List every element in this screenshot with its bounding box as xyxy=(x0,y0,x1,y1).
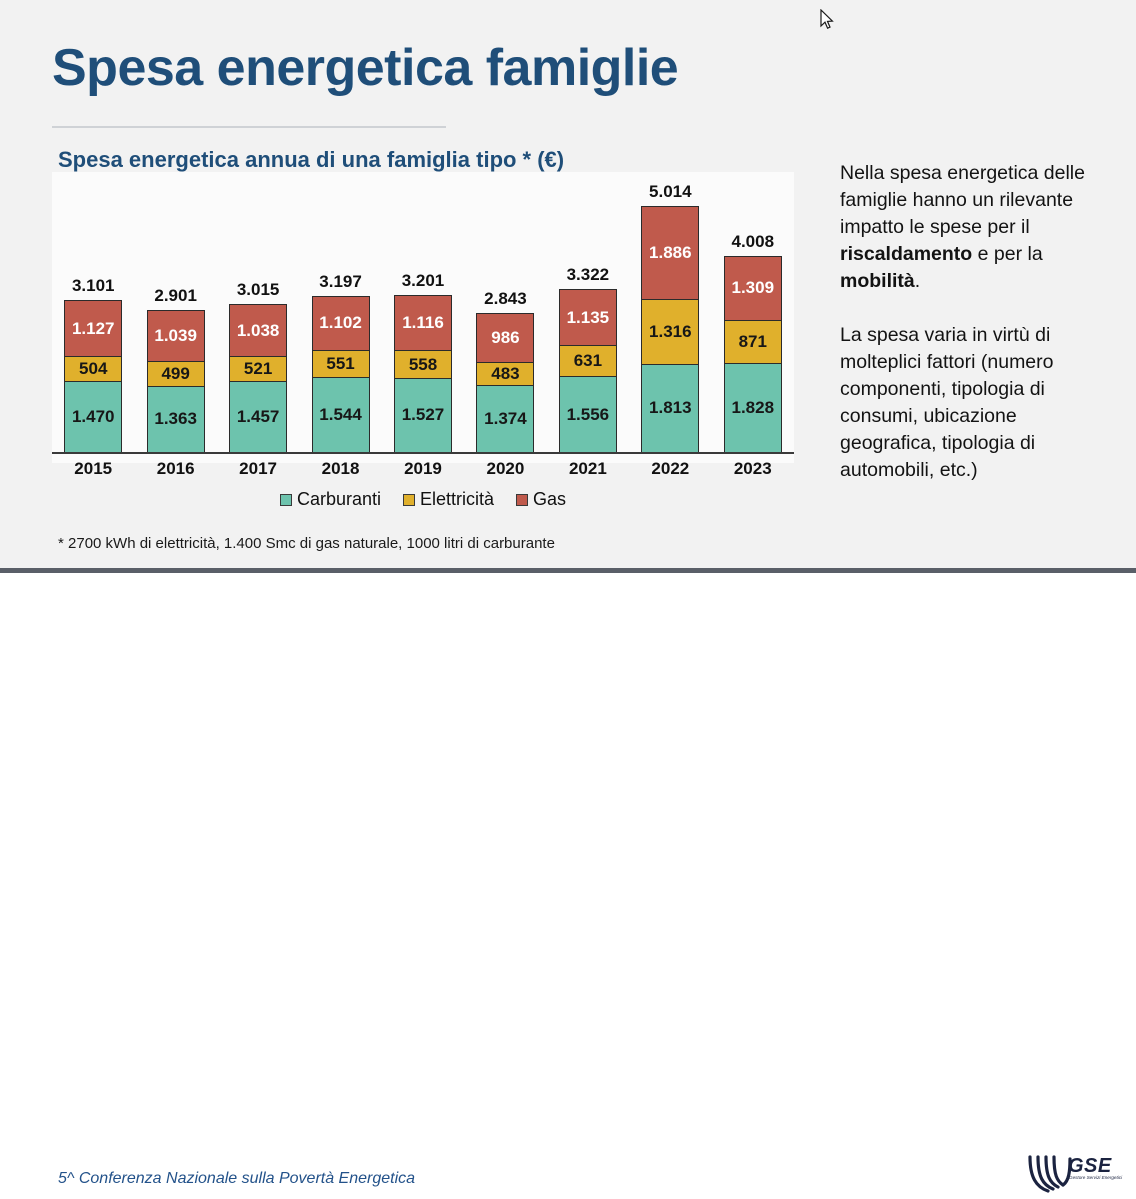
segment-elettricita: 483 xyxy=(476,362,534,386)
p1-text-a: Nella spesa energetica delle famiglie ha… xyxy=(840,162,1085,238)
x-axis-label-2015: 2015 xyxy=(52,459,134,479)
segment-carburanti: 1.457 xyxy=(229,381,287,453)
stacked-bar-chart: 3.1011.1275041.4702.9011.0394991.3633.01… xyxy=(52,172,794,453)
segment-elettricita: 504 xyxy=(64,356,122,381)
bar-total-label: 3.197 xyxy=(312,272,370,292)
title-divider xyxy=(52,126,446,128)
x-axis-label-2019: 2019 xyxy=(382,459,464,479)
chart-footnote: * 2700 kWh di elettricità, 1.400 Smc di … xyxy=(58,535,555,552)
p1-text-e: . xyxy=(915,270,920,292)
bar-total-label: 2.843 xyxy=(476,289,534,309)
bar-total-label: 4.008 xyxy=(724,232,782,252)
segment-gas: 1.039 xyxy=(147,310,205,361)
bar-total-label: 3.101 xyxy=(64,276,122,296)
bar-total-label: 3.201 xyxy=(394,271,452,291)
segment-elettricita: 499 xyxy=(147,361,205,386)
x-axis-label-2020: 2020 xyxy=(464,459,546,479)
bar-2023: 4.0081.3098711.828 xyxy=(724,256,782,453)
bar-total-label: 5.014 xyxy=(641,182,699,202)
p1-text-c: e per la xyxy=(972,243,1042,265)
segment-elettricita: 631 xyxy=(559,345,617,376)
bar-total-label: 3.015 xyxy=(229,280,287,300)
bar-2021: 3.3221.1356311.556 xyxy=(559,289,617,453)
bar-total-label: 3.322 xyxy=(559,265,617,285)
side-paragraph-2: La spesa varia in virtù di molteplici fa… xyxy=(840,322,1102,484)
segment-elettricita: 1.316 xyxy=(641,299,699,364)
chart-legend: CarburantiElettricitàGas xyxy=(52,489,794,510)
segment-carburanti: 1.363 xyxy=(147,386,205,453)
x-axis-label-2017: 2017 xyxy=(217,459,299,479)
bar-total-label: 2.901 xyxy=(147,286,205,306)
segment-gas: 1.038 xyxy=(229,304,287,355)
segment-gas: 1.102 xyxy=(312,296,370,350)
legend-label: Elettricità xyxy=(420,489,494,510)
x-axis-label-2021: 2021 xyxy=(547,459,629,479)
bar-2015: 3.1011.1275041.470 xyxy=(64,300,122,453)
footer-conference-label: 5^ Conferenza Nazionale sulla Povertà En… xyxy=(58,1170,415,1188)
bar-2016: 2.9011.0394991.363 xyxy=(147,310,205,453)
p1-bold-mobilita: mobilità xyxy=(840,270,915,292)
x-axis-line xyxy=(52,452,794,454)
segment-gas: 1.127 xyxy=(64,300,122,356)
segment-gas: 1.309 xyxy=(724,256,782,320)
segment-carburanti: 1.544 xyxy=(312,377,370,453)
segment-carburanti: 1.374 xyxy=(476,385,534,453)
segment-gas: 1.116 xyxy=(394,295,452,350)
segment-carburanti: 1.828 xyxy=(724,363,782,453)
legend-label: Carburanti xyxy=(297,489,381,510)
segment-elettricita: 521 xyxy=(229,356,287,382)
x-axis-label-2022: 2022 xyxy=(629,459,711,479)
bar-2019: 3.2011.1165581.527 xyxy=(394,295,452,453)
segment-carburanti: 1.470 xyxy=(64,381,122,453)
segment-elettricita: 871 xyxy=(724,320,782,363)
legend-item-elettricità[interactable]: Elettricità xyxy=(403,489,494,510)
segment-gas: 1.135 xyxy=(559,289,617,345)
legend-swatch-icon xyxy=(516,494,528,506)
side-paragraph-1: Nella spesa energetica delle famiglie ha… xyxy=(840,160,1102,295)
segment-gas: 1.886 xyxy=(641,206,699,299)
x-axis-label-2018: 2018 xyxy=(299,459,381,479)
segment-carburanti: 1.813 xyxy=(641,364,699,453)
slide-canvas: Spesa energetica famiglie Spesa energeti… xyxy=(0,0,1136,568)
side-text-panel: Nella spesa energetica delle famiglie ha… xyxy=(840,160,1102,484)
segment-elettricita: 551 xyxy=(312,350,370,377)
bar-2017: 3.0151.0385211.457 xyxy=(229,304,287,453)
page-title: Spesa energetica famiglie xyxy=(52,38,678,98)
segment-carburanti: 1.527 xyxy=(394,378,452,453)
mouse-cursor-icon xyxy=(820,9,834,30)
bar-2018: 3.1971.1025511.544 xyxy=(312,296,370,453)
x-axis-label-2016: 2016 xyxy=(134,459,216,479)
legend-item-carburanti[interactable]: Carburanti xyxy=(280,489,381,510)
segment-elettricita: 558 xyxy=(394,350,452,377)
gse-logo-subtitle: Gestore Servizi Energetici xyxy=(1069,1175,1122,1181)
legend-swatch-icon xyxy=(403,494,415,506)
chart-subtitle: Spesa energetica annua di una famiglia t… xyxy=(58,147,564,173)
legend-swatch-icon xyxy=(280,494,292,506)
segment-gas: 986 xyxy=(476,313,534,362)
legend-item-gas[interactable]: Gas xyxy=(516,489,566,510)
legend-label: Gas xyxy=(533,489,566,510)
slide-footer: 5^ Conferenza Nazionale sulla Povertà En… xyxy=(0,573,1136,634)
x-axis-label-2023: 2023 xyxy=(712,459,794,479)
bar-2020: 2.8439864831.374 xyxy=(476,313,534,453)
p1-bold-riscaldamento: riscaldamento xyxy=(840,243,972,265)
bar-2022: 5.0141.8861.3161.813 xyxy=(641,206,699,453)
segment-carburanti: 1.556 xyxy=(559,376,617,453)
